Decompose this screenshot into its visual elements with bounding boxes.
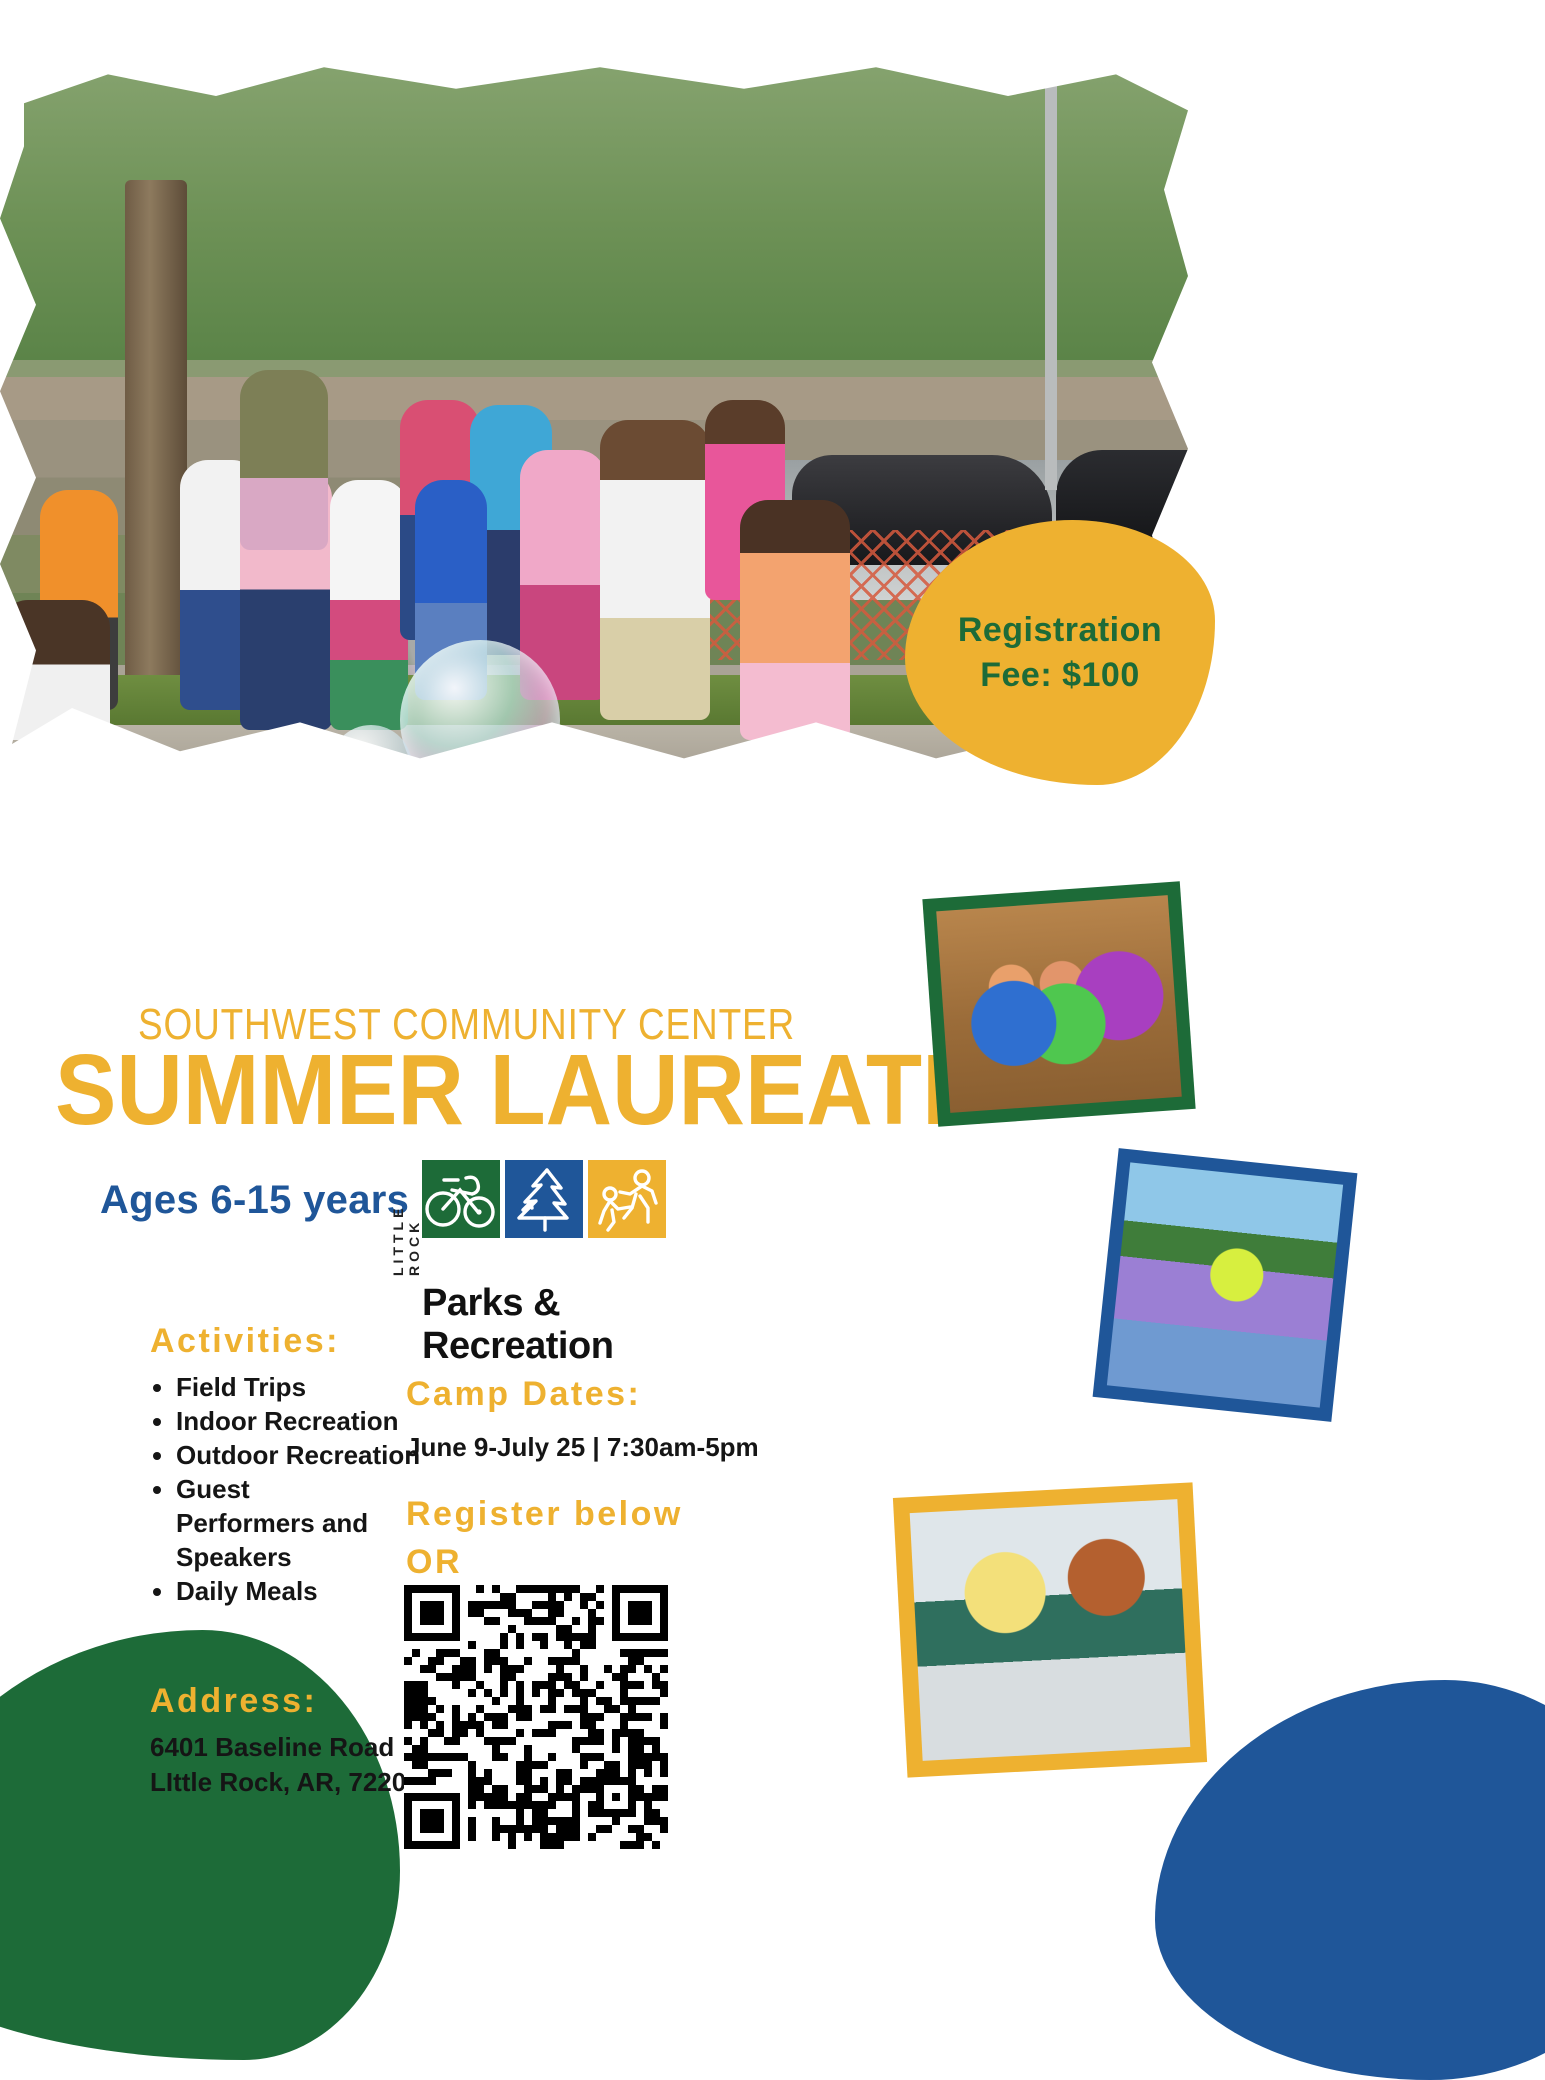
pine-tree-icon — [505, 1160, 583, 1238]
hero-tree-trunk — [125, 180, 187, 720]
camp-dates-value: June 9-July 25 | 7:30am-5pm — [406, 1432, 759, 1463]
playground-photo-image — [1107, 1162, 1343, 1407]
address-block: 6401 Baseline Road LIttle Rock, AR, 7220… — [150, 1730, 421, 1799]
craft-photo-image — [910, 1499, 1191, 1761]
camp-dates-heading: Camp Dates: — [406, 1375, 641, 1414]
address-line-2: LIttle Rock, AR, 72209 — [150, 1765, 421, 1800]
list-item: Field Trips — [176, 1370, 420, 1404]
hero-child — [330, 480, 408, 730]
list-item: Guest Performers and Speakers — [176, 1472, 386, 1574]
hikers-icon — [588, 1160, 666, 1238]
age-range-text: Ages 6-15 years — [100, 1178, 409, 1223]
decorative-blob-blue — [1155, 1680, 1545, 2080]
hero-child — [0, 600, 110, 740]
activities-list: Field Trips Indoor Recreation Outdoor Re… — [140, 1370, 420, 1608]
hero-child — [600, 420, 710, 720]
list-item: Daily Meals — [176, 1574, 420, 1608]
registration-fee-line1: Registration — [958, 608, 1162, 653]
logo-little-rock-text: LITTLE ROCK — [388, 1160, 422, 1276]
facepaint-photo-image — [936, 895, 1182, 1113]
logo-wordmark: Parks & Recreation — [422, 1282, 678, 1368]
craft-photo — [893, 1482, 1207, 1777]
soap-bubble-small — [330, 725, 412, 807]
address-heading: Address: — [150, 1682, 317, 1721]
page-title: SUMMER LAUREATE — [55, 1040, 983, 1140]
qr-code[interactable] — [404, 1585, 668, 1849]
hero-light-pole — [1045, 70, 1057, 490]
activities-heading: Activities: — [150, 1322, 340, 1361]
list-item: Outdoor Recreation — [176, 1438, 420, 1472]
hero-child — [740, 500, 850, 740]
address-line-1: 6401 Baseline Road — [150, 1730, 421, 1765]
playground-photo — [1093, 1148, 1358, 1422]
list-item: Indoor Recreation — [176, 1404, 420, 1438]
registration-fee-line2: Fee: $100 — [958, 653, 1162, 698]
parks-recreation-logo: LITTLE ROCK — [388, 1160, 678, 1368]
facepaint-photo — [922, 881, 1195, 1126]
soap-bubble-large — [400, 640, 560, 800]
qr-code-canvas[interactable] — [404, 1585, 668, 1849]
register-line-1: Register below OR — [406, 1490, 706, 1587]
hero-child — [240, 370, 328, 550]
bicycle-icon — [422, 1160, 500, 1238]
registration-fee-text: Registration Fee: $100 — [940, 608, 1180, 698]
